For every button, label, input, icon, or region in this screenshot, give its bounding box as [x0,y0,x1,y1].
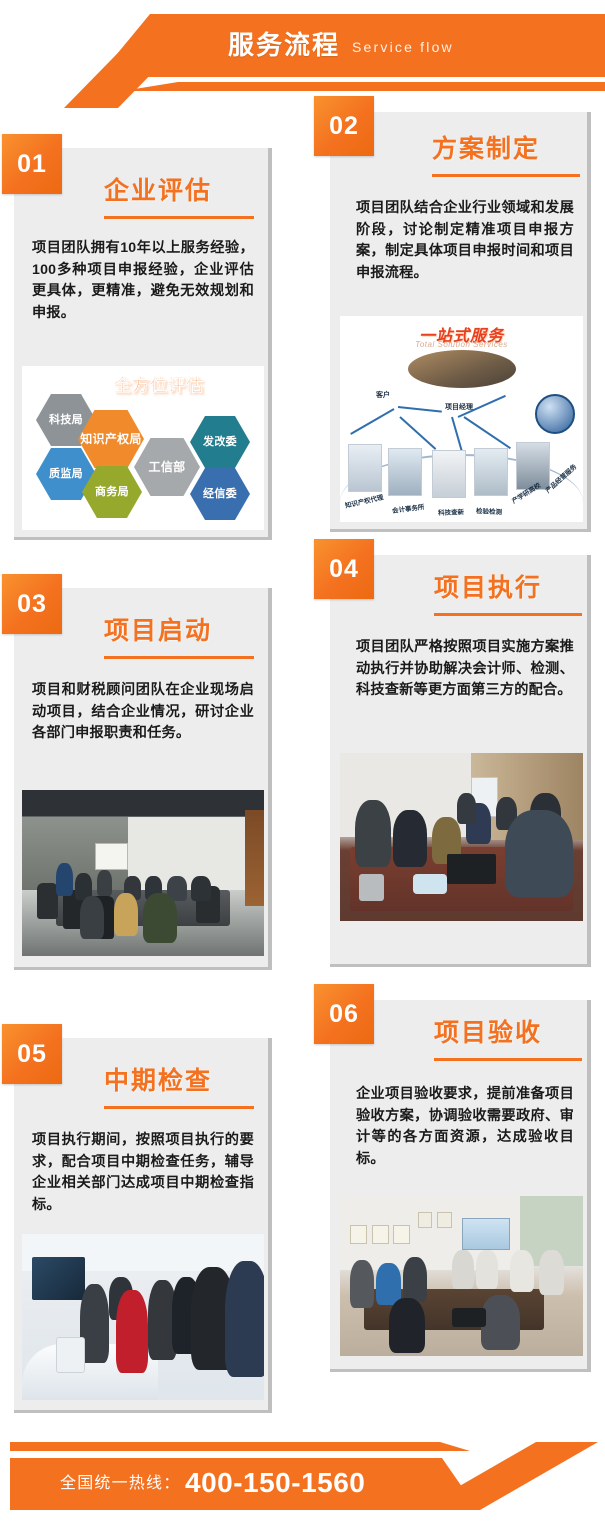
onestop-tile [388,448,422,496]
step-number-badge: 05 [2,1024,62,1084]
onestop-subtitle: Total Solution Services [415,340,508,349]
title-underline [434,1058,582,1061]
title-underline [434,613,582,616]
hexagon-node-fagai: 发改委 [190,416,250,468]
card-photo [340,753,583,921]
onestop-arrow [350,408,394,435]
onestop-label-tech-search: 科技查新 [438,506,464,517]
hotline-label: 全国统一热线： [60,1472,180,1496]
step-number-badge: 03 [2,574,62,634]
card-description: 项目执行期间，按照项目执行的要求，配合项目中期检查任务，辅导企业相关部门达成项目… [32,1130,254,1216]
flow-card-05: 05 中期检查 项目执行期间，按照项目执行的要求，配合项目中期检查任务，辅导企业… [14,1038,272,1413]
step-number-badge: 06 [314,984,374,1044]
card-title: 中期检查 [104,1066,212,1096]
card-description: 企业项目验收要求，提前准备项目验收方案，协调验收需要政府、审计等的各方面资源，达… [356,1084,574,1170]
flow-card-04: 04 项目执行 项目团队严格按照项目实施方案推动执行并协助解决会计师、检测、科技… [330,555,591,967]
onestop-service-diagram: 一站式服务 Total Solution Services 客户 项目经理 知识… [340,316,583,522]
flow-card-06: 06 项目验收 企业项目验收要求，提前准备项目验收方案，协调验收需要政府、审计等… [330,1000,591,1372]
title-underline [104,216,254,219]
card-photo [22,1234,264,1400]
flow-card-01: 01 企业评估 项目团队拥有10年以上服务经验，100多种项目申报经验，企业评估… [14,148,272,540]
hotline-number[interactable]: 400-150-1560 [185,1466,365,1500]
onestop-label-accounting: 会计事务所 [391,501,424,515]
title-underline [104,656,254,659]
photo-scene [22,790,264,956]
page-subtitle: Service flow [352,37,454,57]
service-flow-page: 服务流程 Service flow 01 企业评估 项目团队拥有10年以上服务经… [0,0,605,1538]
hexagon-node-jingxin: 经信委 [190,468,250,520]
onestop-center-photo [408,350,516,388]
page-header: 服务流程 Service flow [0,0,605,108]
photo-scene [340,1196,583,1356]
step-number-badge: 01 [2,134,62,194]
onestop-label-inspection: 检验检测 [476,505,502,516]
card-title: 企业评估 [104,176,212,206]
card-photo [22,790,264,956]
onestop-label-customer: 客户 [376,390,390,400]
onestop-arrow [463,416,511,449]
hexagon-diagram: 全方位评估 科技局 知识产权局 质监局 商务局 工信部 发改委 经信委 [22,366,264,530]
onestop-tile [432,450,466,498]
step-number-badge: 02 [314,96,374,156]
page-footer: 全国统一热线： 400-150-1560 [0,1428,605,1538]
card-title: 项目启动 [104,616,212,646]
onestop-arrow [398,406,442,413]
card-description: 项目和财税顾问团队在企业现场启动项目，结合企业情况，研讨企业各部门申报职责和任务… [32,680,254,745]
card-description: 项目团队严格按照项目实施方案推动执行并协助解决会计师、检测、科技查新等更方面第三… [356,637,574,702]
footer-thin-stripe [10,1442,605,1451]
onestop-tile [474,448,508,496]
iso-seal-icon [535,394,575,434]
hexagon-node-gongxin: 工信部 [134,438,200,496]
card-title: 方案制定 [432,134,540,164]
card-photo [340,1196,583,1356]
card-description: 项目团队拥有10年以上服务经验，100多种项目申报经验，企业评估更具体，更精准，… [32,238,254,324]
flow-card-03: 03 项目启动 项目和财税顾问团队在企业现场启动项目，结合企业情况，研讨企业各部… [14,588,272,970]
onestop-tile [348,444,382,492]
card-title: 项目验收 [434,1018,542,1048]
card-description: 项目团队结合企业行业领域和发展阶段，讨论制定精准项目申报方案，制定具体项目申报时… [356,198,574,284]
onestop-arrow [399,416,436,450]
title-underline [104,1106,254,1109]
photo-scene [340,753,583,921]
step-number-badge: 04 [314,539,374,599]
card-title: 项目执行 [434,573,542,603]
photo-scene [22,1234,264,1400]
page-title: 服务流程 [228,26,340,64]
flow-card-02: 02 方案制定 项目团队结合企业行业领域和发展阶段，讨论制定精准项目申报方案，制… [330,112,591,532]
title-underline [432,174,580,177]
hexagon-diagram-title: 全方位评估 [114,371,204,396]
